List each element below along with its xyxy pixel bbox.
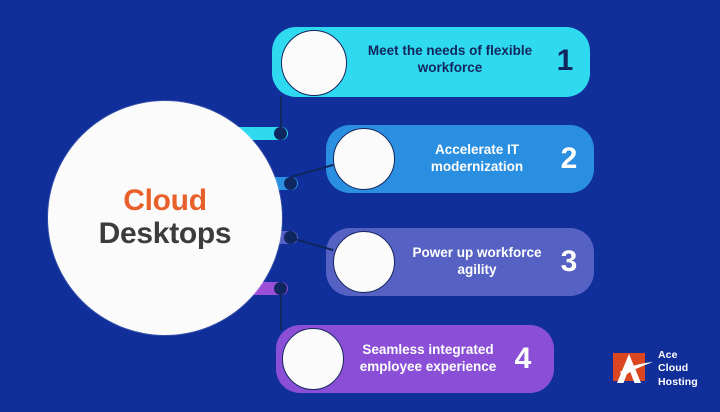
- stub-dot-4: [274, 282, 287, 295]
- step-number-1: 1: [548, 44, 582, 78]
- brand-logo[interactable]: Ace Cloud Hosting: [612, 345, 712, 393]
- step-circle-3: [333, 231, 395, 293]
- ace-cloud-hosting-logo-icon: [612, 350, 654, 388]
- brand-logo-line-1: Ace: [658, 349, 698, 362]
- step-circle-2: [333, 128, 395, 190]
- stub-dot-1: [274, 127, 287, 140]
- step-number-4: 4: [508, 342, 538, 376]
- brand-logo-line-3: Hosting: [658, 376, 698, 389]
- infographic-canvas: Cloud Desktops Meet the needs of flexibl…: [0, 0, 720, 412]
- step-circle-1: [281, 30, 347, 96]
- step-number-2: 2: [554, 142, 584, 176]
- step-circle-4: [282, 328, 344, 390]
- step-label-3: Power up workforce agility: [400, 244, 554, 279]
- brand-logo-text: Ace Cloud Hosting: [658, 349, 698, 388]
- step-label-1: Meet the needs of flexible workforce: [356, 42, 544, 77]
- stub-dot-2: [284, 177, 297, 190]
- step-number-3: 3: [554, 245, 584, 279]
- step-label-4: Seamless integrated employee experience: [348, 341, 508, 376]
- brand-logo-line-2: Cloud: [658, 362, 698, 375]
- step-label-2: Accelerate IT modernization: [400, 141, 554, 176]
- stub-dot-3: [284, 231, 297, 244]
- central-hub: Cloud Desktops: [48, 101, 282, 335]
- hub-title-primary: Cloud: [123, 185, 206, 217]
- hub-title-secondary: Desktops: [99, 217, 232, 252]
